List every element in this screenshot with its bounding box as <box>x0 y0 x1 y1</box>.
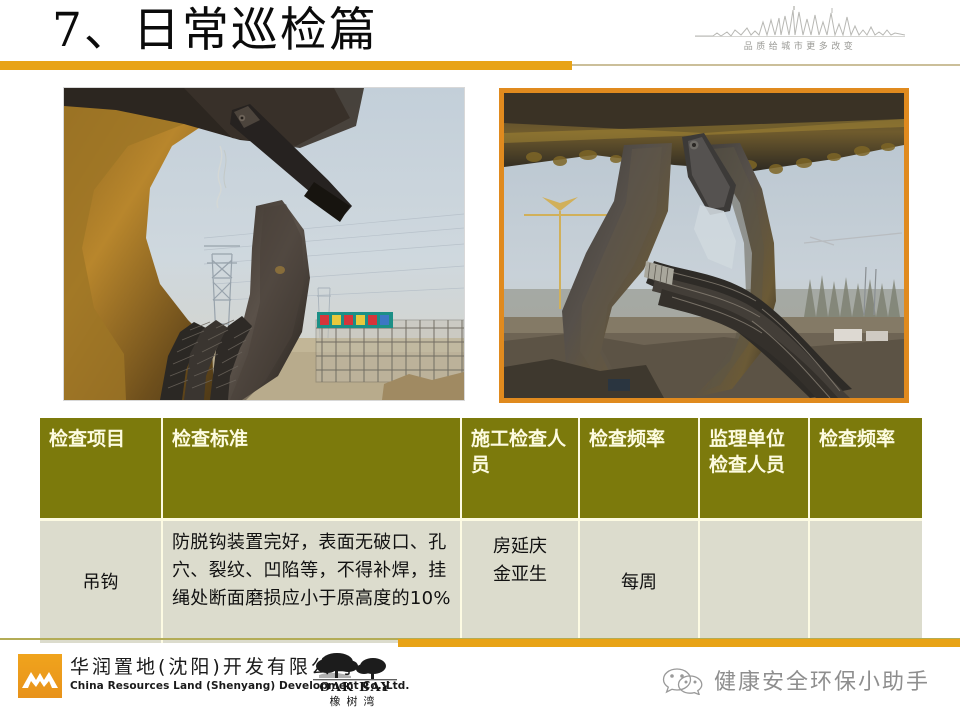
china-resources-land-logo <box>18 654 62 698</box>
inspection-table: 检查项目 检查标准 施工检查人员 检查频率 监理单位检查人员 检查频率 吊钩 防… <box>40 418 922 643</box>
crane-hook-photo-left <box>64 88 464 400</box>
cell-constructor-frequency: 每周 <box>580 521 700 643</box>
cell-supervisor-frequency <box>810 521 922 643</box>
oak-bay-name-cn: 橡树湾 <box>307 693 403 709</box>
city-skyline-icon <box>695 6 905 40</box>
title-underline-thin <box>572 64 960 66</box>
wechat-account-block: 健康安全环保小助手 <box>662 660 930 700</box>
slide-header: 7、日常巡检篇 品质给城市更多改变 <box>0 0 960 72</box>
footer-accent-bar <box>398 639 960 647</box>
oak-tree-icon <box>307 651 403 681</box>
crane-hook-photo-right <box>499 88 909 403</box>
table-row: 吊钩 防脱钩装置完好，表面无破口、孔穴、裂纹、凹陷等，不得补焊，挂绳处断面磨损应… <box>40 521 922 643</box>
page-title: 7、日常巡检篇 <box>52 2 378 60</box>
column-header-standard: 检查标准 <box>163 418 462 521</box>
oak-bay-logo: OAK BAY 橡树湾 <box>307 651 403 707</box>
oak-bay-name-en: OAK BAY <box>307 679 403 694</box>
wechat-account-name: 健康安全环保小助手 <box>714 664 930 696</box>
cell-constructor-inspector: 房延庆 金亚生 <box>462 521 580 643</box>
cell-supervisor-inspector <box>700 521 810 643</box>
column-header-supervisor-inspector: 监理单位检查人员 <box>700 418 810 521</box>
column-header-constructor-inspector: 施工检查人员 <box>462 418 580 521</box>
cell-standard: 防脱钩装置完好，表面无破口、孔穴、裂纹、凹陷等，不得补焊，挂绳处断面磨损应小于原… <box>163 521 462 643</box>
wechat-icon <box>662 665 704 695</box>
brand-mark: 品质给城市更多改变 <box>695 6 905 58</box>
crane-hook-photo-right-image <box>504 93 904 398</box>
cell-item: 吊钩 <box>40 521 163 643</box>
title-underline-bar <box>0 61 572 70</box>
column-header-supervisor-frequency: 检查频率 <box>810 418 922 521</box>
brand-tagline: 品质给城市更多改变 <box>695 39 905 52</box>
column-header-constructor-frequency: 检查频率 <box>580 418 700 521</box>
table-header-row: 检查项目 检查标准 施工检查人员 检查频率 监理单位检查人员 检查频率 <box>40 418 922 521</box>
crane-hook-photo-left-image <box>64 88 464 400</box>
column-header-item: 检查项目 <box>40 418 163 521</box>
mountain-peaks-icon <box>18 654 62 698</box>
slide: 7、日常巡检篇 品质给城市更多改变 <box>0 0 960 720</box>
